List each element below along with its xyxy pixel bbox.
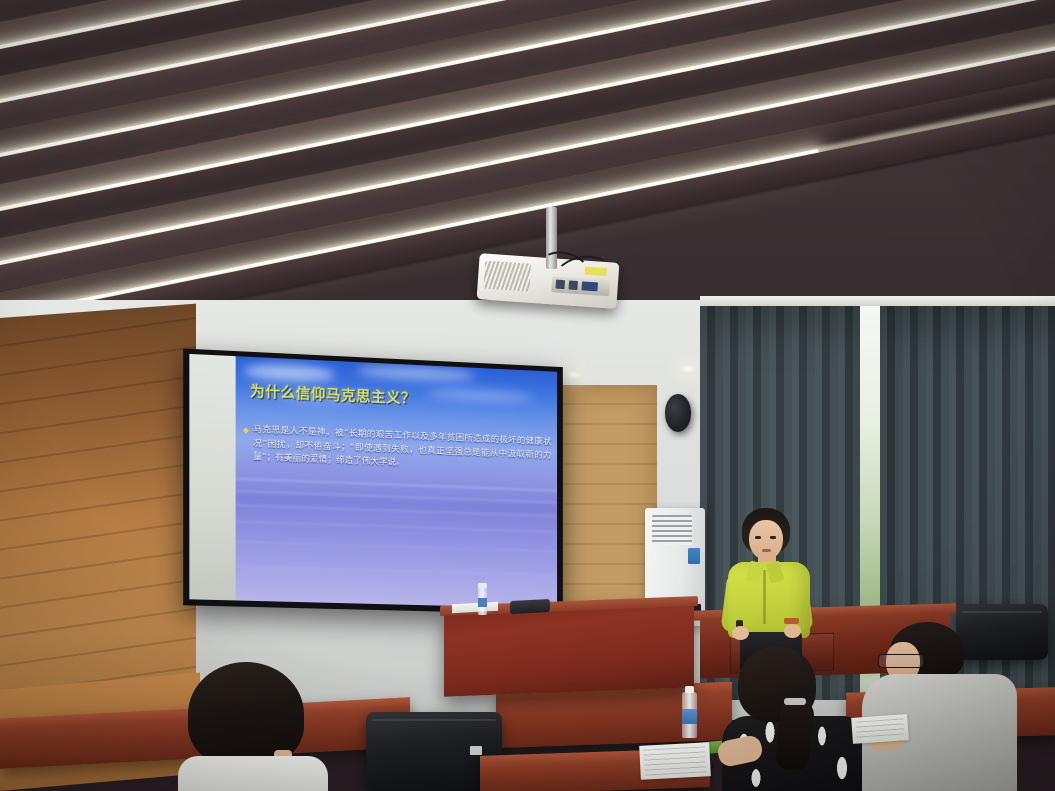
presenter-eye <box>755 536 761 539</box>
eyeglasses-icon <box>878 654 924 668</box>
ceiling-downlight <box>566 371 582 379</box>
paper-lines <box>855 718 904 739</box>
projection-screen: 为什么信仰马克思主义？ ◆ 马克思是人不是神。被“长期的艰苦工作以及多年贫困所造… <box>183 349 563 615</box>
bottle-label <box>478 598 487 607</box>
presenter-hand-right <box>784 624 801 638</box>
presentation-slide: 为什么信仰马克思主义？ ◆ 马克思是人不是神。被“长期的艰苦工作以及多年贫困所造… <box>236 356 557 608</box>
slide-body-text: 马克思是人不是神。被“长期的艰苦工作以及多年贫困所造成的极坏的健康状况”困扰，却… <box>253 424 551 477</box>
slide-bullet-row: ◆ 马克思是人不是神。被“长期的艰苦工作以及多年贫困所造成的极坏的健康状况”困扰… <box>243 423 552 476</box>
projection-screen-surface: 为什么信仰马克思主义？ ◆ 马克思是人不是神。被“长期的艰苦工作以及多年贫困所造… <box>189 354 557 609</box>
presenter-eye <box>770 536 776 539</box>
bottle-cap <box>478 583 487 588</box>
chair-tag <box>470 746 482 755</box>
presenter-hand-left <box>732 626 749 640</box>
paper-lines <box>643 746 706 775</box>
attendee-white-top <box>178 756 328 791</box>
wall-speaker-icon <box>665 394 691 432</box>
projector-vent-grille <box>483 261 531 292</box>
presenter-woman <box>722 508 817 668</box>
slide-title: 为什么信仰马克思主义？ <box>250 380 416 409</box>
presenter-blouse-placket <box>763 570 766 624</box>
bottle-label <box>682 709 697 724</box>
air-conditioner-louvers <box>652 515 692 545</box>
bottle-cap <box>685 686 694 693</box>
presenter-mouth <box>762 549 771 552</box>
lecture-hall-photo: 为什么信仰马克思主义？ ◆ 马克思是人不是神。被“长期的艰苦工作以及多年贫困所造… <box>0 0 1055 791</box>
water-bottle-podium[interactable] <box>478 587 487 615</box>
water-bottle-desk-center[interactable] <box>682 692 697 738</box>
open-notebook[interactable] <box>639 742 711 780</box>
hair-tie <box>784 698 806 705</box>
attendee-gray-shirt <box>862 622 1017 791</box>
handout-paper[interactable] <box>851 714 909 744</box>
attendee-front-left <box>178 662 328 791</box>
ceiling-downlight <box>680 365 696 373</box>
air-conditioner-badge <box>688 548 700 564</box>
slide-bullet-marker: ◆ <box>243 423 249 465</box>
curtain-rod <box>700 296 1055 306</box>
attendee-ponytail <box>722 646 862 791</box>
podium-device[interactable] <box>510 599 550 614</box>
lectern-podium <box>444 603 694 697</box>
